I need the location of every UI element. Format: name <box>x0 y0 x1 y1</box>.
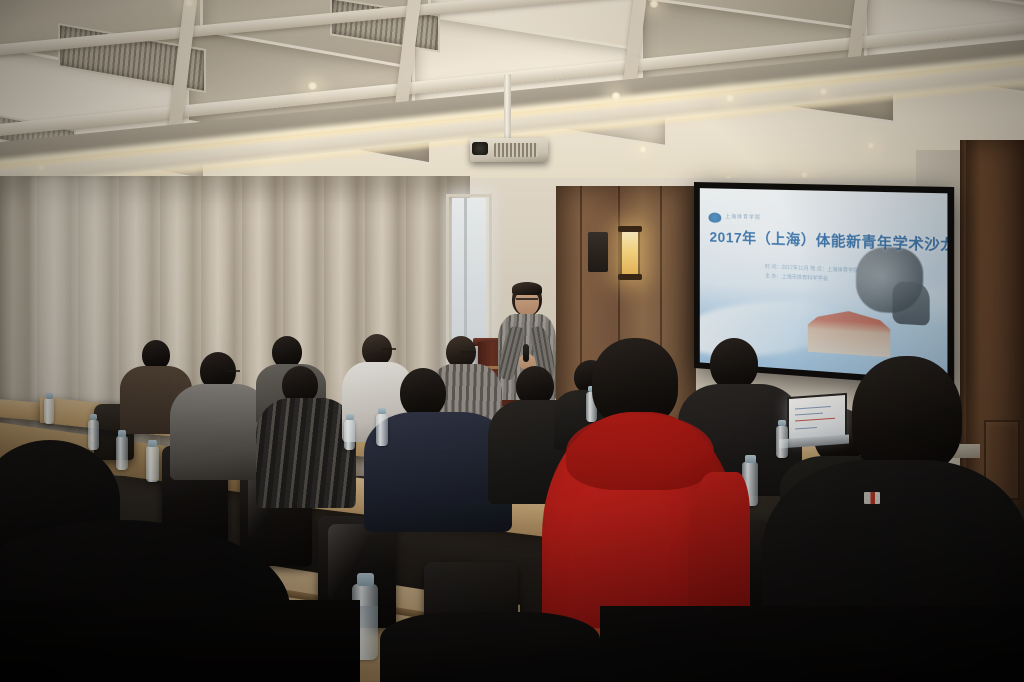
bottle-cap <box>357 573 374 586</box>
projector-lens <box>472 142 488 155</box>
laptop-content-line <box>795 413 823 416</box>
attendee-head <box>400 368 446 418</box>
sconce-bottom-cap <box>618 274 642 280</box>
attendee-torso <box>256 398 356 508</box>
recessed-downlight <box>36 164 46 171</box>
laptop-content-line <box>795 427 817 430</box>
wall-speaker <box>588 232 608 272</box>
recessed-downlight <box>306 82 319 90</box>
handheld-microphone[interactable] <box>523 344 529 362</box>
recessed-downlight <box>724 94 736 102</box>
recessed-downlight <box>648 0 660 8</box>
water-bottle[interactable] <box>116 436 128 470</box>
recessed-downlight <box>638 146 648 153</box>
water-bottle[interactable] <box>88 420 99 450</box>
bottle-cap <box>745 455 756 463</box>
bottle-cap <box>778 420 786 426</box>
bottle-cap <box>378 408 386 414</box>
wall-sconce-light[interactable] <box>622 231 638 275</box>
projector-vent-grill <box>494 143 538 157</box>
sconce-top-cap <box>618 226 642 232</box>
bottle-cap <box>148 440 157 447</box>
bottle-cap <box>46 393 53 399</box>
attendee-glasses <box>226 370 240 376</box>
water-bottle[interactable] <box>146 446 159 482</box>
bottle-cap <box>90 414 97 420</box>
slide-logo-text: 上海体育学院 <box>725 213 761 221</box>
laptop-content-line <box>795 406 831 410</box>
foreground-head <box>852 356 962 474</box>
recessed-downlight <box>610 92 622 100</box>
recessed-downlight <box>866 142 876 149</box>
attendee-glasses <box>382 348 396 354</box>
water-bottle[interactable] <box>376 414 388 446</box>
foreground-shoulder-right <box>600 606 1024 682</box>
water-bottle[interactable] <box>344 420 355 450</box>
bottle-cap <box>346 414 354 420</box>
laptop-content-line <box>795 418 835 422</box>
attendee-head <box>710 338 758 390</box>
collar-label-tag <box>864 492 880 504</box>
presenter-glasses <box>516 298 538 304</box>
slide-institution-logo-icon <box>709 212 722 222</box>
red-hoodie-hood <box>566 414 714 490</box>
water-bottle[interactable] <box>776 426 788 458</box>
projector-mount-pole <box>504 74 511 140</box>
bottle-cap <box>118 430 126 437</box>
water-bottle[interactable] <box>44 398 54 424</box>
foreground-shoulder-left <box>0 600 360 682</box>
presenter-hair <box>512 282 542 295</box>
recessed-downlight <box>818 88 829 95</box>
attendee-torso <box>170 384 270 480</box>
conference-room-photo: 上海体育学院 2017年（上海）体能新青年学术沙龙 时 间：2017年11月 地… <box>0 0 1024 682</box>
attendee-glasses <box>460 351 476 357</box>
foreground-shoulder-center <box>380 612 600 682</box>
